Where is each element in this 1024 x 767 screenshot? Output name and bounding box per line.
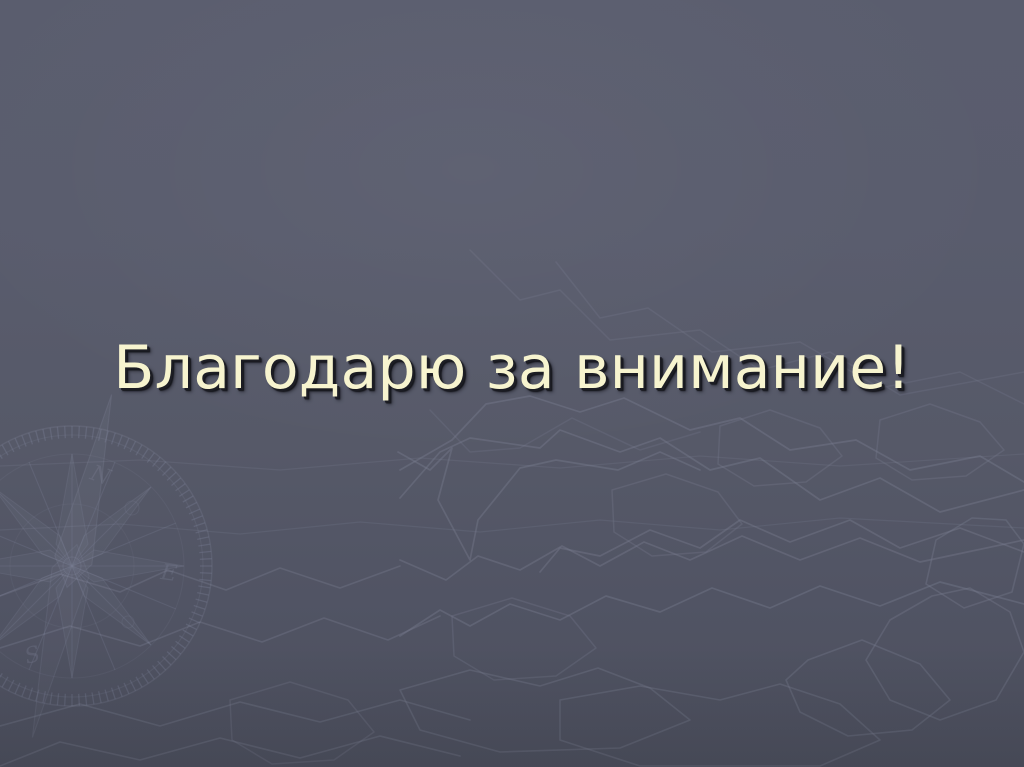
topographic-contour-decoration (0, 0, 1024, 767)
presentation-slide: N S E W Благодарю за внимание! (0, 0, 1024, 767)
compass-label-east: E (158, 560, 178, 587)
slide-title: Благодарю за внимание! (113, 336, 910, 401)
title-block: Благодарю за внимание! (0, 336, 1024, 401)
compass-label-north: N (86, 461, 114, 492)
background-bottom-shade (0, 647, 1024, 767)
background-sheen (0, 0, 1024, 767)
compass-rose-decoration: N S E W (0, 0, 1024, 767)
compass-label-south: S (22, 642, 43, 670)
